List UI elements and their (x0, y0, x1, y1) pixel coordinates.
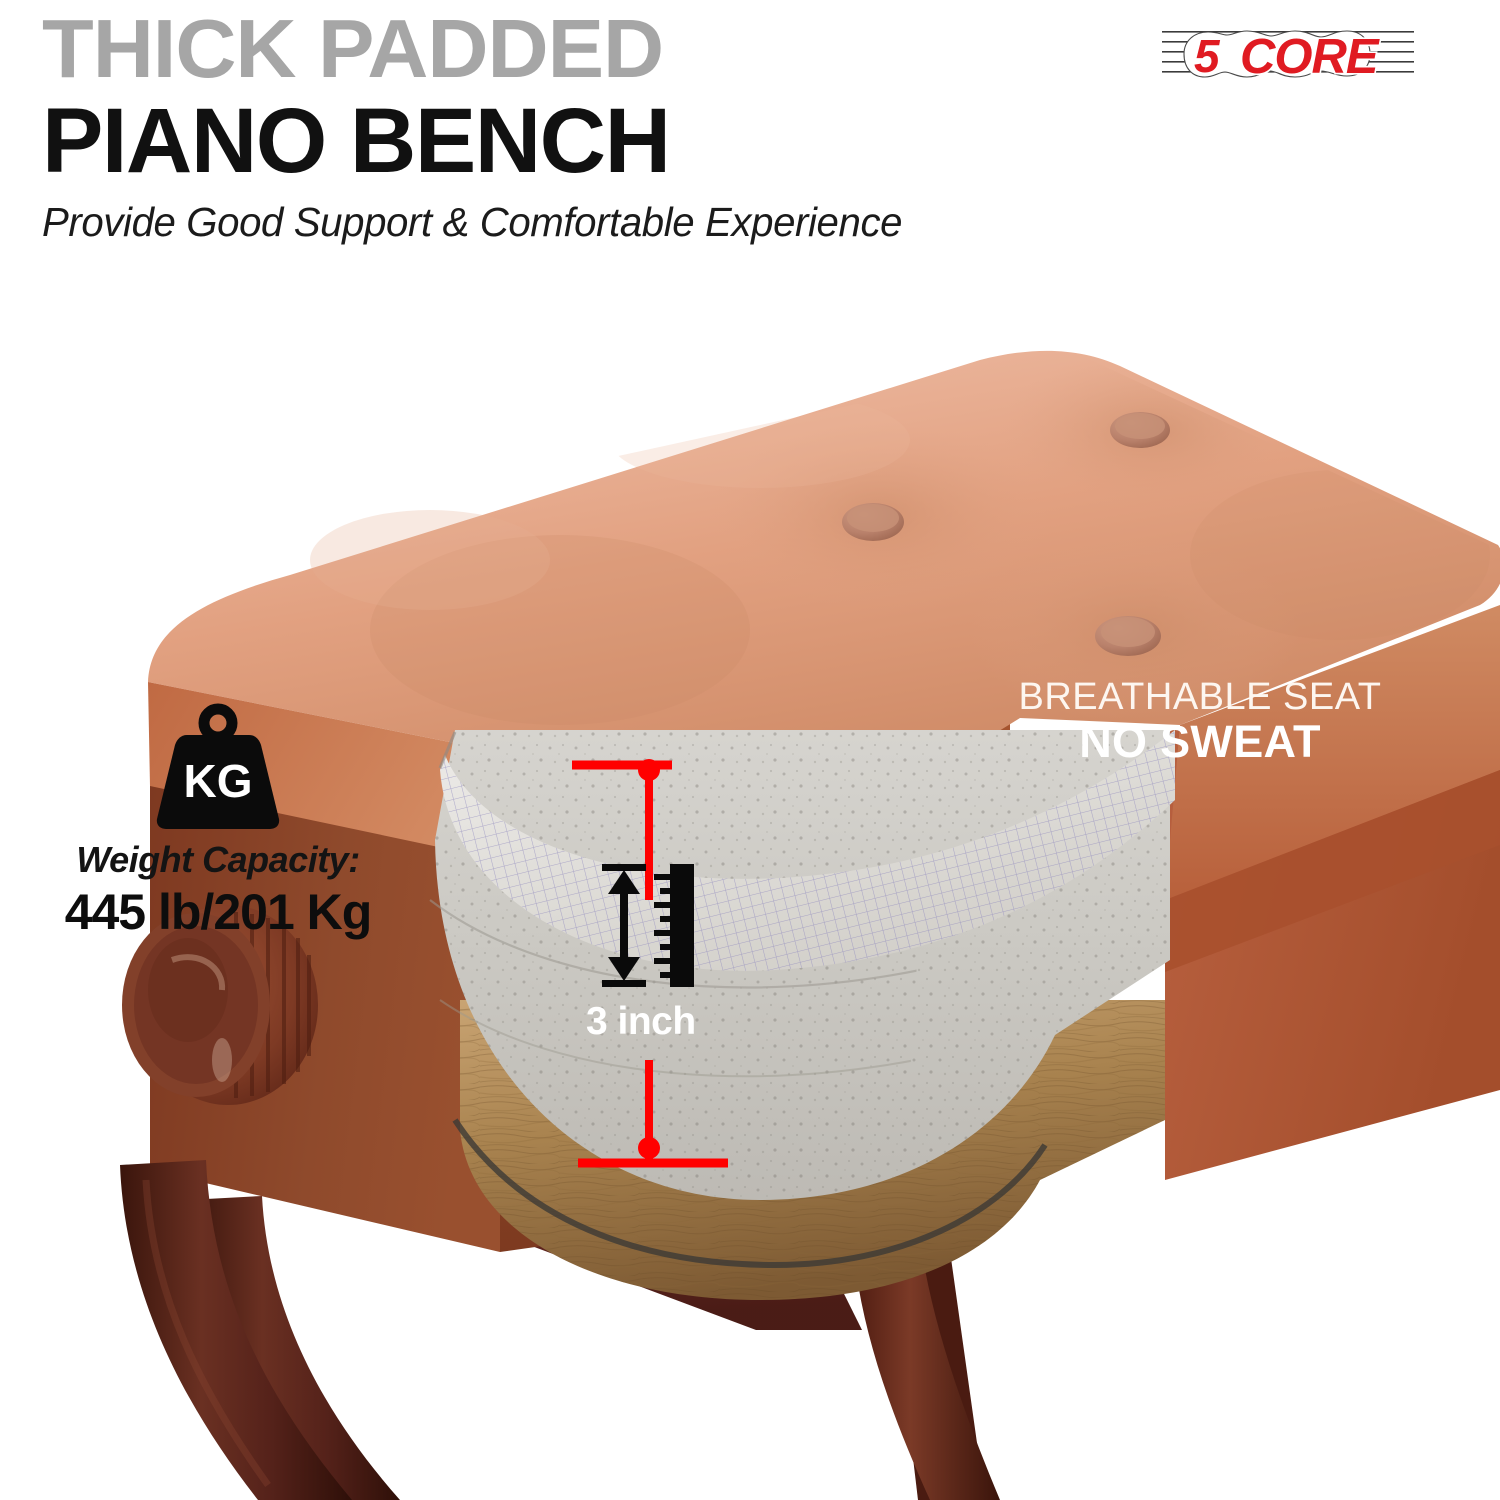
thickness-ruler-callout (596, 862, 746, 997)
thickness-label: 3 inch (586, 1000, 746, 1044)
header-block: THICK PADDED PIANO BENCH Provide Good Su… (42, 8, 1142, 246)
page-subtitle: Provide Good Support & Comfortable Exper… (42, 199, 1120, 246)
ruler-arrow-up (608, 870, 640, 894)
ruler-bar (670, 864, 694, 987)
ruler-icon (596, 862, 711, 997)
ruler-ticks (654, 874, 672, 978)
weight-capacity-value: 445 lb/201 Kg (28, 883, 408, 941)
logo-number: 5 (1194, 30, 1221, 82)
weight-capacity-label: Weight Capacity: (28, 839, 408, 881)
page-eyebrow: THICK PADDED (42, 8, 1164, 89)
weight-capacity-block: KG Weight Capacity: 445 lb/201 Kg (28, 695, 408, 941)
brand-logo: 5 CORE (1162, 24, 1414, 86)
five-core-logo-icon: 5 CORE (1162, 24, 1414, 86)
weight-handle (204, 709, 232, 737)
ruler-cap-bottom (602, 980, 646, 987)
product-infographic: THICK PADDED PIANO BENCH Provide Good Su… (0, 0, 1500, 1500)
ruler-arrow-down (608, 957, 640, 981)
foam-cutaway (430, 730, 1175, 1300)
logo-word: CORE (1240, 30, 1380, 84)
weight-icon-text: KG (184, 755, 253, 807)
ruler-cap-top (602, 864, 646, 871)
page-title: PIANO BENCH (42, 95, 1142, 187)
weight-kg-icon: KG (143, 695, 293, 835)
